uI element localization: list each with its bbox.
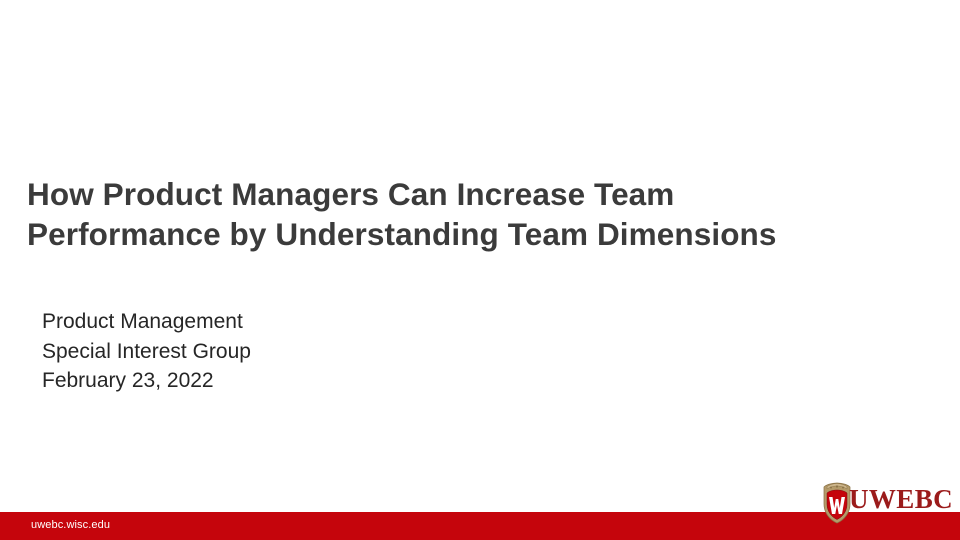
uwebc-logo: UWEBC bbox=[822, 482, 954, 526]
title-line-1: How Product Managers Can Increase Team bbox=[27, 174, 927, 214]
subtitle-line-date: February 23, 2022 bbox=[42, 366, 562, 396]
footer-bar: uwebc.wisc.edu bbox=[0, 512, 960, 540]
subtitle: Product Management Special Interest Grou… bbox=[42, 307, 562, 396]
footer-website-url: uwebc.wisc.edu bbox=[31, 519, 110, 532]
uw-w-crest-icon bbox=[822, 482, 852, 524]
presentation-slide: How Product Managers Can Increase Team P… bbox=[0, 0, 960, 540]
page-title: How Product Managers Can Increase Team P… bbox=[27, 174, 927, 254]
subtitle-line-group-name: Product Management bbox=[42, 307, 562, 337]
uwebc-wordmark: UWEBC bbox=[849, 484, 953, 514]
subtitle-line-group-type: Special Interest Group bbox=[42, 337, 562, 367]
title-line-2: Performance by Understanding Team Dimens… bbox=[27, 214, 927, 254]
